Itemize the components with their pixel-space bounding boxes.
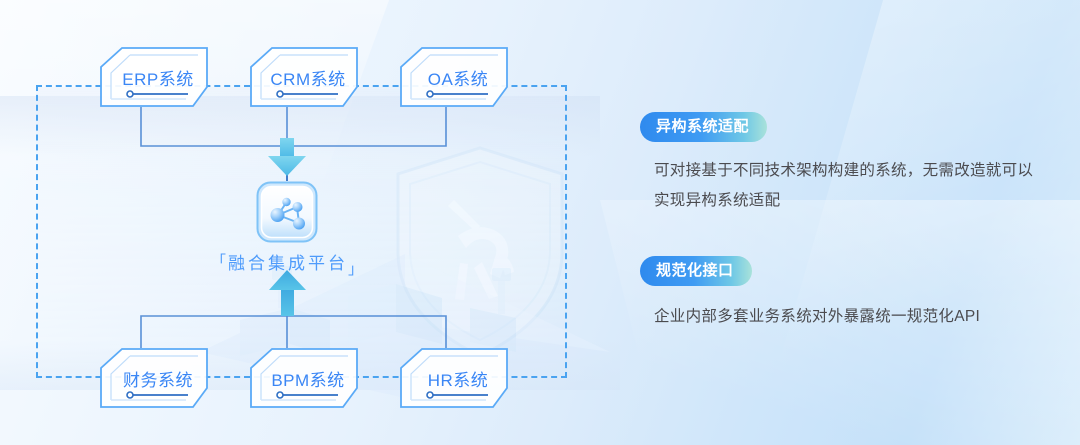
- system-node-label: HR系统: [400, 348, 508, 408]
- network-nodes-icon[interactable]: [256, 181, 318, 243]
- system-node-label: BPM系统: [250, 348, 358, 408]
- system-node-oa[interactable]: OA系统: [400, 47, 508, 107]
- system-node-finance[interactable]: 财务系统: [100, 348, 208, 408]
- bracket-right: 」: [348, 261, 363, 278]
- system-node-crm[interactable]: CRM系统: [250, 47, 358, 107]
- feature-item-standardized-interface: 规范化接口 企业内部多套业务系统对外暴露统一规范化API: [640, 256, 1050, 332]
- badge-wrapper: 异构系统适配: [640, 112, 767, 142]
- platform-title-text: 融合集成平台: [228, 254, 348, 273]
- status-badge: 异构系统适配: [640, 112, 767, 142]
- system-node-hr[interactable]: HR系统: [400, 348, 508, 408]
- feature-description: 可对接基于不同技术架构构建的系统，无需改造就可以实现异构系统适配: [654, 156, 1046, 216]
- system-node-bpm[interactable]: BPM系统: [250, 348, 358, 408]
- badge-wrapper: 规范化接口: [640, 256, 752, 286]
- platform-title: 「融合集成平台」: [201, 249, 373, 279]
- slide-canvas: ERP系统 CRM系统 OA系统: [0, 0, 1080, 445]
- system-node-erp[interactable]: ERP系统: [100, 47, 208, 107]
- status-badge: 规范化接口: [640, 256, 752, 286]
- feature-description: 企业内部多套业务系统对外暴露统一规范化API: [654, 302, 1046, 332]
- system-node-label: ERP系统: [100, 47, 208, 107]
- feature-list: 异构系统适配 可对接基于不同技术架构构建的系统，无需改造就可以实现异构系统适配 …: [640, 112, 1050, 360]
- system-node-label: 财务系统: [100, 348, 208, 408]
- system-node-label: OA系统: [400, 47, 508, 107]
- bracket-left: 「: [211, 253, 226, 270]
- feature-item-heterogeneous-adaptation: 异构系统适配 可对接基于不同技术架构构建的系统，无需改造就可以实现异构系统适配: [640, 112, 1050, 216]
- system-node-label: CRM系统: [250, 47, 358, 107]
